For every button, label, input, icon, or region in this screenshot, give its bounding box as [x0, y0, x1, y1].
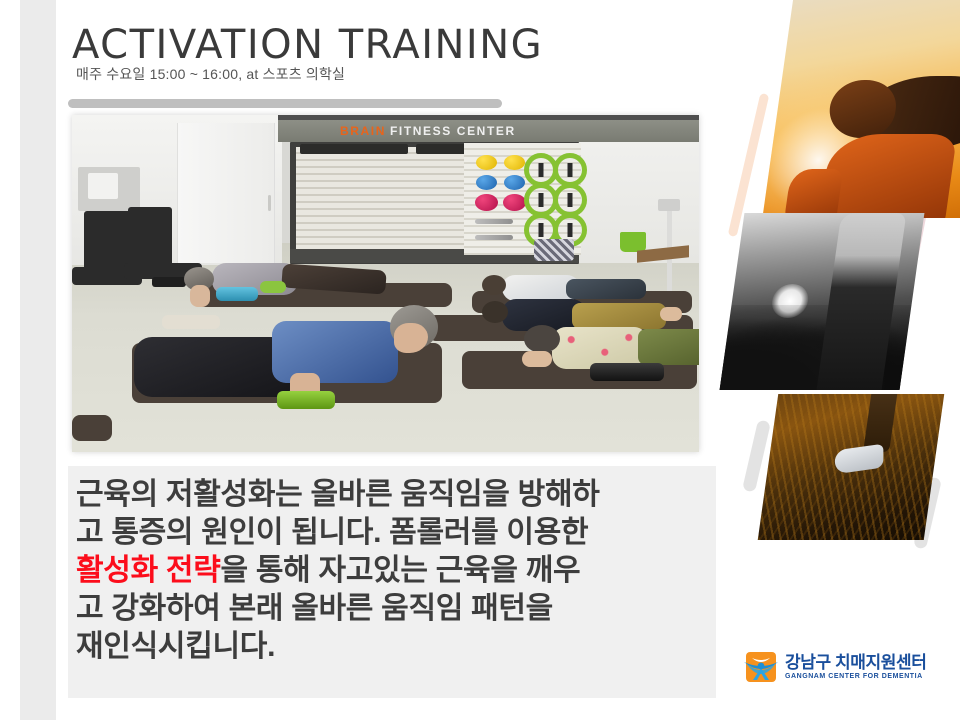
logo-korean-name: 강남구 치매지원센터	[785, 653, 926, 672]
main-class-photo: BRAIN FITNESS CENTER	[72, 115, 699, 452]
navy-shirt-foot	[660, 307, 682, 321]
white-shirt-leg	[566, 279, 646, 299]
logo-english-name: GANGNAM CENTER FOR DEMENTIA	[785, 672, 926, 682]
description-line-3: 활성화 전략을 통해 자고있는 근육을 깨우	[76, 552, 712, 590]
floral-shirt-head	[524, 325, 560, 353]
floral-shirt-leg	[638, 329, 699, 365]
weight-bar-2	[475, 235, 513, 240]
green-bucket	[620, 232, 646, 252]
left-accent-strip	[20, 0, 56, 720]
equipment-pile	[534, 239, 574, 261]
blue-jacket-torso	[272, 321, 398, 383]
logo-mark-icon	[746, 652, 776, 682]
blue-jacket-legs	[134, 337, 294, 397]
logo-text-block: 강남구 치매지원센터 GANGNAM CENTER FOR DEMENTIA	[785, 653, 926, 682]
gym-machine-seat-far	[88, 173, 118, 199]
white-shirt-head	[482, 275, 506, 295]
gym-door-panel	[177, 123, 275, 263]
slatwall-top-bar-left	[300, 144, 408, 154]
title-underline-bar	[68, 99, 502, 108]
green-roller-back	[260, 281, 286, 293]
green-ring-2	[553, 153, 587, 187]
description-line-1: 근육의 저활성화는 올바른 움직임을 방해하	[76, 476, 712, 514]
highlight-strategy-text: 활성화 전략	[76, 554, 221, 587]
navy-shirt-head	[482, 301, 508, 323]
pink-ball-2	[503, 194, 526, 211]
blackwhite-landscape-photo	[720, 213, 925, 390]
yellow-ball-1	[476, 155, 497, 170]
pole-head	[658, 199, 680, 211]
page-title: ACTIVATION TRAINING	[72, 22, 543, 68]
slipper-pair	[162, 315, 220, 329]
yellow-ball-2	[504, 155, 525, 170]
organization-logo: 강남구 치매지원센터 GANGNAM CENTER FOR DEMENTIA	[746, 652, 926, 682]
blue-ball-2	[504, 175, 525, 190]
gray-shirt-arm	[190, 285, 210, 307]
description-line-2: 고 통증의 원인이 됩니다. 폼롤러를 이용한	[76, 514, 712, 552]
blue-ball-1	[476, 175, 497, 190]
running-shoe-photo	[758, 394, 945, 540]
floral-shirt-arm	[522, 351, 552, 367]
pink-ball-1	[475, 194, 498, 211]
description-line-4: 고 강화하여 본래 올바른 움직임 패턴을	[76, 590, 712, 628]
door-handle	[268, 195, 271, 211]
blue-foam-roller-back	[216, 287, 258, 301]
runner-sunset-photo	[762, 0, 960, 218]
gym-machine-back-2	[128, 207, 172, 267]
page-subtitle: 매주 수요일 15:00 ~ 16:00, at 스포츠 의학실	[76, 64, 345, 84]
runner-arm	[783, 169, 843, 218]
navy-shirt-leg	[572, 303, 666, 329]
sign-brand-text: BRAIN	[340, 124, 386, 138]
green-ring-4	[553, 183, 587, 217]
logo-person-icon	[742, 657, 780, 681]
description-line-5: 재인식시킵니다.	[76, 628, 712, 666]
green-foam-roller-front	[277, 391, 335, 409]
sign-rest-text: FITNESS CENTER	[390, 124, 516, 138]
brain-fitness-center-sign: BRAIN FITNESS CENTER	[278, 120, 699, 142]
description-text: 근육의 저활성화는 올바른 움직임을 방해하 고 통증의 원인이 됩니다. 폼롤…	[76, 476, 712, 666]
gym-machine-pedal	[152, 277, 186, 287]
weight-bar-1	[475, 219, 513, 224]
description-line-3-rest: 을 통해 자고있는 근육을 깨우	[221, 554, 581, 587]
black-foam-roller	[590, 363, 664, 381]
slide: ACTIVATION TRAINING 매주 수요일 15:00 ~ 16:00…	[0, 0, 960, 720]
exercise-mat-far-left	[72, 415, 112, 441]
